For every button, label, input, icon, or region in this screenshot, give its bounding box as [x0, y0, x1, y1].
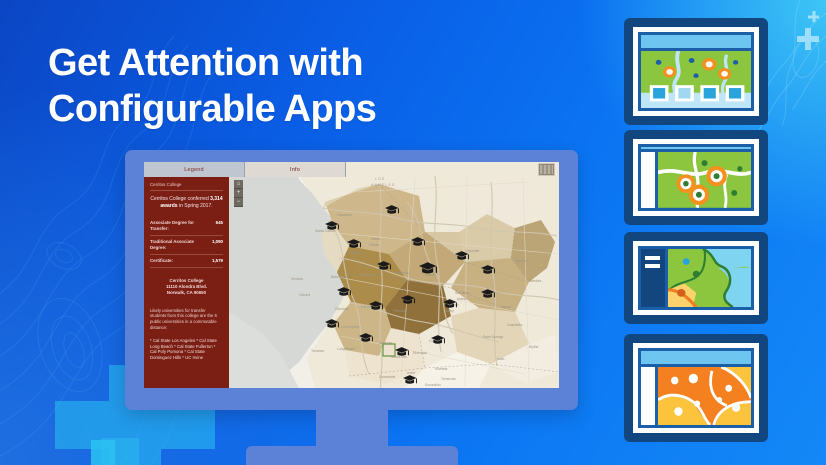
address-line: Norwalk, CA 90650 [150, 290, 223, 296]
svg-text:Barstow: Barstow [515, 259, 528, 263]
basemap-gallery-button[interactable] [538, 163, 555, 176]
card-side-panel [641, 152, 655, 208]
web-map[interactable]: LOS ANGELES Santa Clarita Burbank Santa … [229, 162, 559, 388]
svg-text:Bakersfield: Bakersfield [331, 275, 348, 279]
svg-text:Murrieta: Murrieta [435, 367, 448, 371]
card-body [641, 147, 751, 208]
svg-text:Blythe: Blythe [529, 345, 539, 349]
card-column [641, 147, 751, 208]
page-title-line-2: Configurable Apps [48, 86, 376, 132]
svg-text:ANGELES: ANGELES [371, 183, 395, 187]
card-map-green [641, 51, 751, 108]
panel-note: Likely universities for transfer student… [150, 308, 223, 331]
card-map-heatmap [658, 367, 751, 425]
svg-text:Ontario: Ontario [425, 273, 436, 277]
card-inner [633, 343, 759, 433]
basemap-thumbnail-image [540, 165, 553, 174]
svg-text:Los Angeles: Los Angeles [341, 325, 360, 329]
monitor-screen: LOS ANGELES Santa Clarita Burbank Santa … [144, 162, 559, 388]
svg-text:Riverside: Riverside [413, 351, 427, 355]
svg-text:Burbank: Burbank [349, 251, 362, 255]
svg-text:Pomona: Pomona [393, 309, 406, 313]
svg-text:Glendale: Glendale [335, 307, 349, 311]
panel-universities-list: * Cal State Los Angeles * Cal State Long… [150, 338, 223, 361]
map-zoom-controls[interactable]: ⌂ + − [234, 180, 243, 207]
panel-college-name: Cerritos College [150, 182, 223, 191]
panel-summary-suffix: in Spring 2017. [178, 203, 213, 209]
panel-summary-prefix: Cerritos College conferred [150, 196, 210, 202]
configurable-app-card-dark-sidebar[interactable] [624, 232, 768, 324]
decorative-plus-corner-small [808, 11, 819, 22]
svg-text:Hesperia: Hesperia [395, 271, 409, 275]
panel-address: Cerritos College 11110 Alondra Blvd. Nor… [150, 278, 223, 297]
stat-row: Traditional Associate Degree: 1,090 [150, 236, 223, 255]
card-column [641, 35, 751, 108]
card-row [641, 367, 751, 425]
info-panel: Cerritos College Cerritos College confer… [144, 177, 229, 388]
svg-text:Santa: Santa [371, 237, 380, 241]
svg-text:ardino: ardino [457, 297, 467, 301]
svg-text:San Bern-: San Bern- [455, 291, 470, 295]
tab-legend[interactable]: Legend [144, 162, 245, 177]
card-body [641, 351, 751, 425]
svg-text:Needles: Needles [529, 279, 542, 283]
zoom-in-button[interactable]: + [234, 189, 243, 198]
card-column [641, 351, 751, 425]
card-header-bar [641, 35, 751, 48]
svg-text:Indio: Indio [497, 357, 504, 361]
page-title-line-1: Get Attention with [48, 42, 363, 84]
configurable-app-card-heatmap[interactable] [624, 334, 768, 442]
panel-tabs[interactable]: Legend Info [144, 162, 346, 177]
tab-info[interactable]: Info [245, 162, 346, 177]
configurable-app-card-media-map[interactable] [624, 18, 768, 125]
svg-text:Torrance: Torrance [311, 349, 324, 353]
menu-line-icon [645, 256, 660, 260]
stat-value: 1,579 [212, 258, 223, 264]
card-body [641, 249, 751, 307]
card-map-green-water [668, 249, 751, 307]
svg-text:Hemet: Hemet [501, 305, 511, 309]
menu-line-icon [645, 264, 660, 268]
card-body [641, 35, 751, 108]
svg-text:Palm Springs: Palm Springs [483, 335, 503, 339]
card-pad [638, 144, 754, 211]
monitor-mockup: LOS ANGELES Santa Clarita Burbank Santa … [125, 150, 578, 410]
card-map-clusters [658, 152, 751, 208]
stat-label: Traditional Associate Degree: [150, 239, 208, 251]
svg-text:Oceanside: Oceanside [379, 375, 395, 379]
monitor-stand-base [246, 446, 458, 465]
card-header-bar [641, 351, 751, 364]
stat-label: Certificate: [150, 258, 173, 264]
card-row [641, 152, 751, 208]
stat-value: 645 [216, 220, 223, 226]
card-inner [633, 241, 759, 315]
zoom-out-button[interactable]: − [234, 198, 243, 207]
stat-label: Associate Degree for Transfer: [150, 220, 212, 232]
panel-summary: Cerritos College conferred 3,314 awards … [150, 196, 223, 210]
page-title: Get Attention with Configurable Apps [48, 40, 376, 132]
card-pad [638, 246, 754, 310]
svg-text:Palmdale: Palmdale [361, 273, 375, 277]
card-header-bar [641, 147, 751, 149]
svg-text:Temecula: Temecula [441, 377, 456, 381]
svg-text:Ventura: Ventura [291, 277, 303, 281]
card-pad [638, 32, 754, 111]
stat-value: 1,090 [212, 239, 223, 245]
card-pad [638, 348, 754, 428]
svg-text:Valley: Valley [445, 309, 454, 313]
card-inner [633, 27, 759, 116]
svg-text:LOS: LOS [375, 177, 385, 181]
stat-row: Certificate: 1,579 [150, 255, 223, 268]
card-side-panel [641, 367, 655, 425]
decorative-plus-small [62, 440, 144, 465]
svg-text:Clarita: Clarita [369, 243, 379, 247]
decorative-plus-corner [797, 28, 819, 50]
svg-text:Escondido: Escondido [425, 383, 441, 387]
svg-text:Victorville: Victorville [465, 249, 480, 253]
svg-text:Irvine: Irvine [407, 371, 415, 375]
card-inner [633, 139, 759, 216]
svg-text:Long Beach: Long Beach [337, 347, 355, 351]
card-side-panel-dark [641, 249, 665, 307]
home-button[interactable]: ⌂ [234, 180, 243, 189]
configurable-app-card-sidebar-clusters[interactable] [624, 130, 768, 225]
stat-row: Associate Degree for Transfer: 645 [150, 217, 223, 236]
svg-text:Coachella: Coachella [507, 323, 522, 327]
svg-text:Oxnard: Oxnard [299, 293, 310, 297]
svg-text:Lancaster: Lancaster [337, 213, 353, 217]
